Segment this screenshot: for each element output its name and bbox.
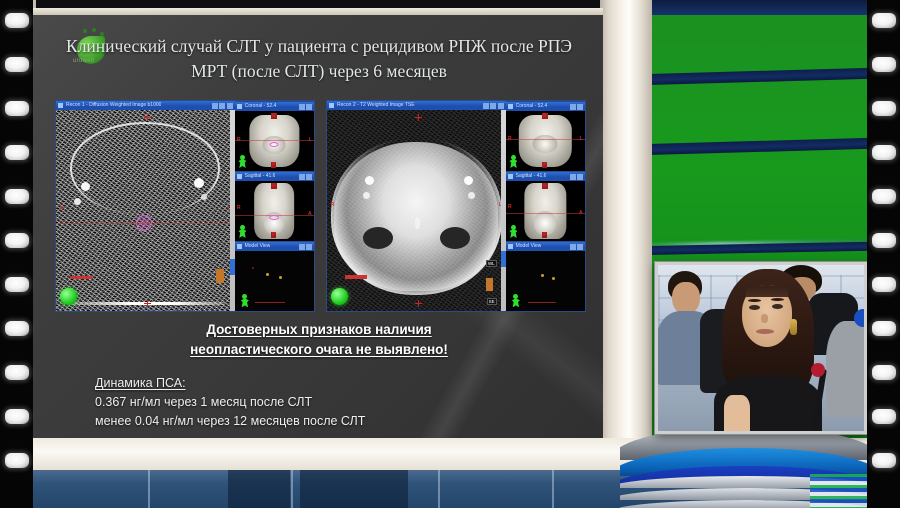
psa-dynamics-block: Динамика ПСА: 0.367 нг/мл через 1 месяц …	[95, 374, 365, 431]
left-viewer-sagittal-panel[interactable]: Sagittal - 41.6 R P R A	[235, 171, 314, 241]
dwi-status-indicator	[60, 288, 77, 305]
right-model-title-text: Model View	[516, 243, 542, 249]
stage-seam-3	[438, 470, 440, 508]
film-perforation	[872, 233, 896, 248]
right-viewer-coronal-panel[interactable]: Coronal - 52.4 R P R L	[506, 101, 585, 171]
left-coronal-titlebar[interactable]: Coronal - 52.4	[235, 102, 314, 111]
sagittal-label-bottom: P	[271, 232, 276, 238]
dwi-marker-top	[144, 114, 151, 121]
film-perforation	[872, 145, 896, 160]
stage-seam-1	[148, 470, 150, 508]
right-viewer-canvas[interactable]: R L WL SE	[327, 110, 506, 311]
speaker-shoulder-skin	[724, 395, 750, 431]
maximize-icon[interactable]	[490, 103, 496, 109]
speaker-brow-left	[748, 299, 761, 302]
model-point-3	[252, 267, 254, 269]
attendee-far-right	[826, 301, 864, 411]
film-perforation	[872, 453, 896, 468]
left-viewer-title-text: Recon 1 - Diffusion Weighted Image b1000	[66, 102, 161, 108]
right-coronal-canvas[interactable]: R P R L	[506, 111, 585, 171]
minimize-icon[interactable]	[299, 174, 305, 180]
right-coronal-app-icon	[508, 104, 513, 109]
film-perforation	[872, 57, 896, 72]
left-coronal-app-icon	[237, 104, 242, 109]
r-model-point-2	[552, 277, 555, 280]
dwi-crosshair-h	[56, 223, 235, 224]
right-coronal-window-buttons[interactable]	[570, 104, 584, 110]
film-perforation	[5, 365, 29, 380]
left-model-canvas[interactable]	[235, 251, 314, 311]
right-viewer-titlebar[interactable]: Recon 2 - T2 Weighted Image TSE	[327, 101, 506, 110]
close-icon[interactable]	[498, 103, 504, 109]
film-strip-right	[867, 0, 900, 508]
r-coronal-label-left: R	[508, 136, 512, 142]
film-perforation	[872, 101, 896, 116]
right-viewer-window-buttons[interactable]	[483, 103, 504, 109]
speaker-brow-right	[771, 298, 784, 301]
stage-seam-4	[552, 470, 554, 508]
microphone-head	[811, 363, 825, 377]
left-sagittal-titlebar[interactable]: Sagittal - 41.6	[235, 172, 314, 181]
dwi-bright-blob-3	[194, 178, 204, 188]
screen-capture: uroweb Клинический случай СЛТ у пациента…	[0, 0, 900, 508]
right-sagittal-titlebar[interactable]: Sagittal - 41.6	[506, 172, 585, 181]
film-perforation	[5, 409, 29, 424]
left-viewer-coronal-panel[interactable]: Coronal - 52.4 R P R L	[235, 101, 314, 171]
dwi-orientation-left: R	[60, 206, 64, 212]
stage-shadow-b	[300, 470, 408, 508]
page-title: Клинический случай СЛТ у пациента с реци…	[57, 34, 581, 84]
slide-top-edge	[33, 8, 603, 15]
psa-line-2: менее 0.04 нг/мл через 12 месяцев после …	[95, 412, 365, 431]
minimize-icon[interactable]	[483, 103, 489, 109]
minimize-icon[interactable]	[299, 244, 305, 250]
psa-line-1: 0.367 нг/мл через 1 месяц после СЛТ	[95, 393, 365, 412]
speaker-earring	[790, 319, 797, 335]
dwi-scale-tag	[216, 269, 224, 283]
speaker-eye-right	[772, 304, 783, 309]
right-coronal-titlebar[interactable]: Coronal - 52.4	[506, 102, 585, 111]
film-perforation	[5, 101, 29, 116]
left-sagittal-window-buttons[interactable]	[299, 174, 313, 180]
film-perforation	[5, 321, 29, 336]
model-point-2	[279, 276, 282, 279]
film-perforation	[5, 453, 29, 468]
film-perforation	[5, 189, 29, 204]
r-model-axis-line	[528, 302, 556, 303]
minimize-icon[interactable]	[299, 104, 305, 110]
film-perforation	[5, 233, 29, 248]
conclusion-line-2: неопластического очага не выявлено!	[190, 342, 448, 357]
film-perforation	[872, 277, 896, 292]
t2-femoral-head-left	[363, 227, 393, 249]
minimize-icon[interactable]	[570, 104, 576, 110]
right-viewer-title-text: Recon 2 - T2 Weighted Image TSE	[337, 102, 415, 108]
right-model-app-icon	[508, 244, 513, 249]
speaker-fringe	[746, 285, 788, 297]
left-model-title-text: Model View	[245, 243, 271, 249]
r-model-point-1	[541, 274, 544, 277]
speaker-mouth	[756, 329, 774, 334]
left-sagittal-title-text: Sagittal - 41.6	[245, 173, 276, 179]
t2-midline-structure	[415, 217, 420, 229]
right-sagittal-title-text: Sagittal - 41.6	[516, 173, 547, 179]
t2-series-tag: SE	[487, 298, 497, 305]
r-model-orientation-icon	[510, 294, 521, 307]
sagittal-lesion-marker	[269, 215, 279, 220]
minimize-icon[interactable]	[570, 244, 576, 250]
stage-seam-2	[291, 470, 293, 508]
r-coronal-label-top: R	[542, 113, 548, 119]
r-coronal-orientation-icon	[508, 155, 519, 168]
wall-top-band	[648, 0, 872, 15]
r-coronal-crosshair	[506, 139, 585, 140]
film-perforation	[872, 189, 896, 204]
t2-status-indicator	[331, 288, 348, 305]
t2-ruler	[345, 275, 367, 279]
right-sagittal-app-icon	[508, 174, 513, 179]
sagittal-orientation-icon	[237, 225, 248, 238]
t2-orientation-left: R	[331, 202, 335, 208]
slide-title-line-1: Клинический случай СЛТ у пациента с реци…	[57, 34, 581, 59]
conclusion-line-1: Достоверных признаков наличия	[206, 322, 431, 337]
left-dwi-viewer[interactable]: Recon 1 - Diffusion Weighted Image b1000	[55, 100, 315, 312]
scan-images-row: Recon 1 - Diffusion Weighted Image b1000	[55, 100, 585, 312]
logo-dot-a-icon	[83, 29, 87, 33]
t2-marker-top	[415, 114, 422, 121]
close-icon[interactable]	[227, 103, 233, 109]
r-sagittal-orientation-icon	[508, 225, 519, 238]
right-model-titlebar[interactable]: Model View	[506, 242, 585, 251]
speaker-eye-left	[749, 305, 760, 310]
model-point-1	[266, 273, 269, 276]
r-sagittal-label-right: A	[579, 210, 583, 216]
left-viewer-main-pane[interactable]: Recon 1 - Diffusion Weighted Image b1000	[56, 101, 235, 311]
film-perforation	[5, 57, 29, 72]
r-sagittal-crosshair	[506, 213, 585, 214]
film-perforation	[872, 321, 896, 336]
left-viewer-window-buttons[interactable]	[212, 103, 233, 109]
r-coronal-label-right: L	[580, 136, 583, 142]
presentation-slide: uroweb Клинический случай СЛТ у пациента…	[33, 8, 603, 438]
coronal-label-top: R	[271, 113, 277, 119]
r-coronal-label-bottom: P	[542, 162, 547, 168]
sagittal-label-right: A	[308, 211, 312, 217]
dwi-marker-bottom	[144, 300, 151, 307]
close-icon[interactable]	[577, 104, 583, 110]
left-viewer-model-panel[interactable]: Model View	[235, 241, 314, 311]
video-inner	[658, 265, 864, 431]
minimize-icon[interactable]	[570, 174, 576, 180]
left-model-app-icon	[237, 244, 242, 249]
dwi-ruler	[70, 276, 92, 279]
coronal-label-bottom: P	[271, 162, 276, 168]
right-viewer-model-panel[interactable]: Model View	[506, 241, 585, 311]
t2-window-level-tag: WL	[486, 260, 497, 267]
right-viewer-main-pane[interactable]: Recon 2 - T2 Weighted Image TSE	[327, 101, 506, 311]
coronal-label-right: L	[309, 137, 312, 143]
right-viewer-app-icon	[329, 103, 334, 108]
left-sagittal-app-icon	[237, 174, 242, 179]
left-viewer-side-panels: Coronal - 52.4 R P R L	[235, 101, 314, 311]
logo-dot-b-icon	[92, 28, 96, 32]
film-perforation	[872, 409, 896, 424]
podium-led-strip	[810, 474, 868, 508]
t2-marker-bottom	[415, 300, 422, 307]
conclusion-text: Достоверных признаков наличия неопластич…	[57, 320, 581, 359]
coronal-lesion-marker	[270, 142, 279, 147]
left-coronal-canvas[interactable]: R P R L	[235, 111, 314, 171]
dwi-body-contour	[70, 122, 220, 214]
left-viewer-canvas[interactable]: R L	[56, 110, 235, 311]
left-coronal-window-buttons[interactable]	[299, 104, 313, 110]
speaker-nose	[761, 314, 768, 323]
t2-scale-tag	[486, 278, 493, 291]
r-sagittal-label-left: R	[508, 204, 512, 210]
film-strip-left	[0, 0, 33, 508]
left-model-titlebar[interactable]: Model View	[235, 242, 314, 251]
coronal-orientation-icon	[237, 155, 248, 168]
film-perforation	[5, 277, 29, 292]
left-model-window-buttons[interactable]	[299, 244, 313, 250]
right-sagittal-canvas[interactable]: R P R A	[506, 181, 585, 241]
r-coronal-bone-bright	[532, 135, 558, 153]
podium	[620, 432, 870, 508]
right-model-window-buttons[interactable]	[570, 244, 584, 250]
close-icon[interactable]	[306, 174, 312, 180]
right-sagittal-window-buttons[interactable]	[570, 174, 584, 180]
right-viewer-side-panels: Coronal - 52.4 R P R L	[506, 101, 585, 311]
sagittal-label-top: R	[271, 183, 277, 189]
coronal-crosshair	[235, 140, 314, 141]
presenter-video[interactable]	[655, 262, 867, 434]
model-orientation-icon	[239, 294, 250, 307]
left-viewer-titlebar[interactable]: Recon 1 - Diffusion Weighted Image b1000	[56, 101, 235, 110]
film-perforation	[872, 365, 896, 380]
sagittal-label-left: R	[237, 205, 241, 211]
r-sagittal-label-top: R	[542, 183, 548, 189]
slide-title-line-2: МРТ (после СЛТ) через 6 месяцев	[57, 59, 581, 84]
film-perforation	[872, 13, 896, 28]
right-coronal-title-text: Coronal - 52.4	[516, 103, 548, 109]
speaker	[720, 267, 816, 431]
t2-noise-texture	[327, 110, 506, 311]
attendee-far-right-body	[826, 321, 864, 417]
film-perforation	[5, 13, 29, 28]
left-viewer-app-icon	[58, 103, 63, 108]
left-sagittal-canvas[interactable]: R P R A	[235, 181, 314, 241]
r-sagittal-label-bottom: P	[542, 232, 547, 238]
minimize-icon[interactable]	[212, 103, 218, 109]
close-icon[interactable]	[306, 244, 312, 250]
model-axis-line	[255, 302, 285, 303]
psa-header: Динамика ПСА:	[95, 374, 365, 393]
close-icon[interactable]	[577, 174, 583, 180]
right-model-canvas[interactable]	[506, 251, 585, 311]
t2-femoral-head-right	[440, 227, 470, 249]
stage-shadow-a	[228, 470, 290, 508]
maximize-icon[interactable]	[219, 103, 225, 109]
t2-vessel-left	[365, 176, 374, 185]
right-viewer-sagittal-panel[interactable]: Sagittal - 41.6 R P R A	[506, 171, 585, 241]
coronal-label-left: R	[237, 137, 241, 143]
film-perforation	[5, 145, 29, 160]
right-t2-viewer[interactable]: Recon 2 - T2 Weighted Image TSE	[326, 100, 586, 312]
left-coronal-title-text: Coronal - 52.4	[245, 103, 277, 109]
close-icon[interactable]	[577, 244, 583, 250]
close-icon[interactable]	[306, 104, 312, 110]
